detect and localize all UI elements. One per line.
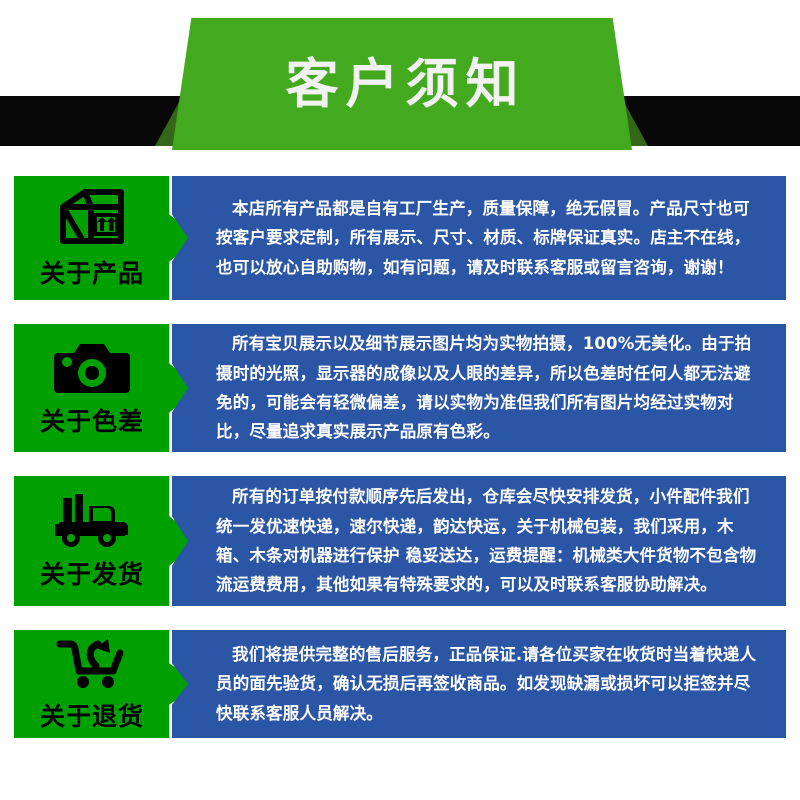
notice-section-product: 关于产品 本店所有产品都是自有工厂生产，质量保障，绝无假冒。产品尺寸也可按客户要… [0, 176, 800, 300]
camera-icon [52, 339, 132, 397]
return-cart-icon [52, 636, 132, 692]
panel-return: 我们将提供完整的售后服务，正品保证.请各位买家在收货时当着快递人员的面先验货，确… [172, 630, 786, 738]
notice-section-shipping: 关于发货 所有的订单按付款顺序先后发出，仓库会尽快安排发货，小件配件我们统一发优… [0, 476, 800, 606]
panel-text-shipping: 所有的订单按付款顺序先后发出，仓库会尽快安排发货，小件配件我们统一发优速快递，速… [216, 482, 764, 599]
tile-label-return: 关于退货 [40, 697, 144, 733]
package-box-icon [55, 187, 129, 249]
tile-label-shipping: 关于发货 [40, 555, 144, 591]
notice-sections: 关于产品 本店所有产品都是自有工厂生产，质量保障，绝无假冒。产品尺寸也可按客户要… [0, 170, 800, 738]
panel-shipping: 所有的订单按付款顺序先后发出，仓库会尽快安排发货，小件配件我们统一发优速快递，速… [172, 476, 786, 606]
page-title: 客户须知 [172, 18, 632, 150]
panel-text-color: 所有宝贝展示以及细节展示图片均为实物拍摄，100%无美化。由于拍摄时的光照，显示… [216, 329, 764, 446]
forklift-truck-icon [49, 492, 135, 550]
panel-text-product: 本店所有产品都是自有工厂生产，质量保障，绝无假冒。产品尺寸也可按客户要求定制，所… [216, 194, 764, 282]
notice-section-return: 关于退货 我们将提供完整的售后服务，正品保证.请各位买家在收货时当着快递人员的面… [0, 630, 800, 738]
tile-label-color: 关于色差 [40, 402, 144, 438]
panel-color: 所有宝贝展示以及细节展示图片均为实物拍摄，100%无美化。由于拍摄时的光照，显示… [172, 324, 786, 452]
tile-label-product: 关于产品 [40, 254, 144, 290]
panel-text-return: 我们将提供完整的售后服务，正品保证.请各位买家在收货时当着快递人员的面先验货，确… [216, 640, 764, 728]
panel-product: 本店所有产品都是自有工厂生产，质量保障，绝无假冒。产品尺寸也可按客户要求定制，所… [172, 176, 786, 300]
notice-section-color: 关于色差 所有宝贝展示以及细节展示图片均为实物拍摄，100%无美化。由于拍摄时的… [0, 324, 800, 452]
page-banner: 客户须知 [0, 0, 800, 170]
